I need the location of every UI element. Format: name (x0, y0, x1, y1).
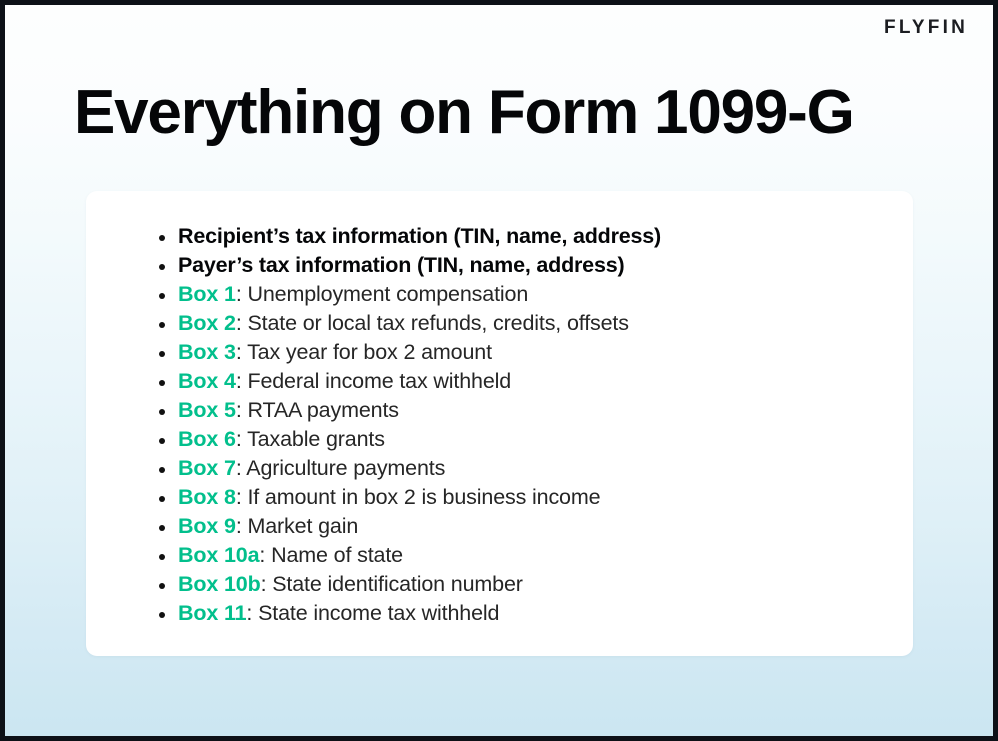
box-description: : State identification number (261, 572, 523, 596)
list-item: Recipient’s tax information (TIN, name, … (178, 222, 913, 251)
page-title: Everything on Form 1099-G (74, 80, 854, 145)
box-description: : State or local tax refunds, credits, o… (236, 311, 629, 335)
box-label: Box 6 (178, 427, 236, 451)
page-title-prefix: Everything on (74, 78, 488, 147)
page-title-highlight: Form 1099-G (488, 80, 854, 145)
box-description: : RTAA payments (236, 398, 399, 422)
box-label: Box 3 (178, 340, 236, 364)
list-item: Box 5: RTAA payments (178, 396, 913, 425)
box-description: : Market gain (236, 514, 358, 538)
box-description: : If amount in box 2 is business income (236, 485, 601, 509)
content-card: Recipient’s tax information (TIN, name, … (86, 191, 913, 656)
list-item: Box 9: Market gain (178, 512, 913, 541)
list-item: Box 6: Taxable grants (178, 425, 913, 454)
list-item: Box 10a: Name of state (178, 541, 913, 570)
list-item: Box 7: Agriculture payments (178, 454, 913, 483)
list-item: Box 11: State income tax withheld (178, 599, 913, 628)
list-item: Box 8: If amount in box 2 is business in… (178, 483, 913, 512)
box-label: Box 10b (178, 572, 261, 596)
list-item: Box 3: Tax year for box 2 amount (178, 338, 913, 367)
box-label: Box 4 (178, 369, 236, 393)
box-description: : Taxable grants (236, 427, 385, 451)
box-description: : Name of state (259, 543, 403, 567)
box-description: : Agriculture payments (236, 456, 445, 480)
form-box-list: Recipient’s tax information (TIN, name, … (86, 191, 913, 628)
box-label: Box 1 (178, 282, 236, 306)
box-description: : Tax year for box 2 amount (236, 340, 492, 364)
box-label: Box 9 (178, 514, 236, 538)
flyfin-logo: FLYFIN (884, 18, 968, 37)
list-item: Box 4: Federal income tax withheld (178, 367, 913, 396)
box-description: : Unemployment compensation (236, 282, 528, 306)
box-label: Box 5 (178, 398, 236, 422)
list-item: Payer’s tax information (TIN, name, addr… (178, 251, 913, 280)
list-item-text: Payer’s tax information (TIN, name, addr… (178, 253, 624, 277)
page-title-highlight-text: Form 1099-G (488, 78, 854, 147)
box-label: Box 8 (178, 485, 236, 509)
box-label: Box 2 (178, 311, 236, 335)
list-item: Box 1: Unemployment compensation (178, 280, 913, 309)
box-label: Box 10a (178, 543, 259, 567)
list-item: Box 10b: State identification number (178, 570, 913, 599)
box-description: : State income tax withheld (246, 601, 499, 625)
slide-canvas: FLYFIN Everything on Form 1099-G Recipie… (0, 0, 998, 741)
box-label: Box 7 (178, 456, 236, 480)
list-item: Box 2: State or local tax refunds, credi… (178, 309, 913, 338)
list-item-text: Recipient’s tax information (TIN, name, … (178, 224, 661, 248)
box-label: Box 11 (178, 601, 246, 625)
box-description: : Federal income tax withheld (236, 369, 511, 393)
